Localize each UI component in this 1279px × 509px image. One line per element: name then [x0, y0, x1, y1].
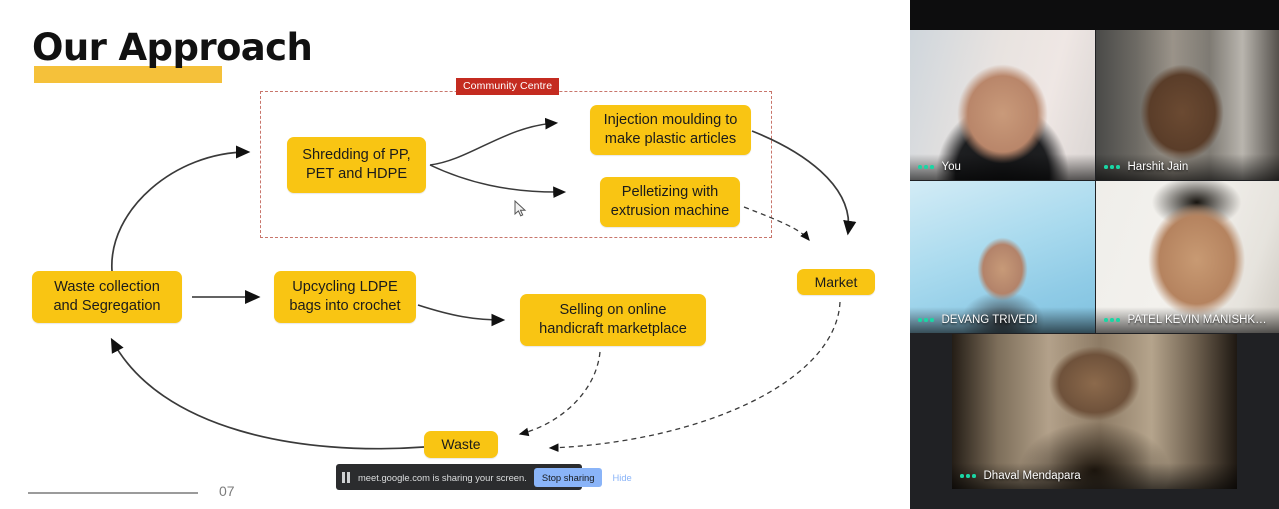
pause-icon [342, 472, 351, 483]
node-shredding: Shredding of PP, PET and HDPE [287, 137, 426, 193]
mic-activity-icon [1104, 318, 1120, 322]
participant-tile-patel-kevin[interactable]: PATEL KEVIN MANISHK… [1096, 181, 1279, 333]
participant-name: DEVANG TRIVEDI [942, 314, 1038, 326]
node-waste: Waste [424, 431, 498, 458]
node-shredding-label: Shredding of PP, PET and HDPE [296, 146, 417, 184]
mic-activity-icon [960, 474, 976, 478]
node-pelletizing-label: Pelletizing with extrusion machine [609, 183, 731, 221]
page-title: Our Approach [32, 26, 312, 69]
node-pelletizing: Pelletizing with extrusion machine [600, 177, 740, 227]
node-selling-online: Selling on online handicraft marketplace [520, 294, 706, 346]
mic-activity-icon [918, 165, 934, 169]
node-waste-collection-label: Waste collection and Segregation [41, 278, 173, 316]
name-strip: PATEL KEVIN MANISHK… [1096, 307, 1279, 333]
mouse-cursor-icon [514, 200, 528, 218]
hide-button[interactable]: Hide [609, 468, 634, 487]
node-injection-moulding: Injection moulding to make plastic artic… [590, 105, 751, 155]
node-selling-online-label: Selling on online handicraft marketplace [529, 301, 697, 339]
page-number: 07 [219, 483, 235, 499]
participant-name: Harshit Jain [1128, 161, 1189, 173]
participant-tile-dhaval-mendapara[interactable]: Dhaval Mendapara [952, 334, 1237, 489]
participant-name: You [942, 161, 961, 173]
stop-sharing-button[interactable]: Stop sharing [534, 468, 603, 487]
node-upcycling-ldpe-label: Upcycling LDPE bags into crochet [283, 278, 407, 316]
name-strip: DEVANG TRIVEDI [910, 307, 1095, 333]
shared-slide: Our Approach Community Centre [0, 0, 910, 509]
share-message: meet.google.com is sharing your screen. [358, 472, 527, 483]
node-market: Market [797, 269, 875, 295]
node-market-label: Market [815, 273, 858, 292]
participant-tile-harshit-jain[interactable]: Harshit Jain [1096, 30, 1279, 180]
meet-participants-panel: You Harshit Jain DEVANG TRIVEDI PATEL KE… [910, 0, 1279, 509]
participant-name: Dhaval Mendapara [984, 470, 1081, 482]
name-strip: Harshit Jain [1096, 154, 1279, 180]
node-injection-moulding-label: Injection moulding to make plastic artic… [599, 111, 742, 149]
title-text: Our Approach [32, 26, 312, 69]
screen: Our Approach Community Centre [0, 0, 1279, 509]
node-waste-collection: Waste collection and Segregation [32, 271, 182, 323]
screen-share-bar[interactable]: meet.google.com is sharing your screen. … [336, 464, 582, 490]
node-upcycling-ldpe: Upcycling LDPE bags into crochet [274, 271, 416, 323]
meet-topbar [910, 0, 1279, 30]
mic-activity-icon [1104, 165, 1120, 169]
mic-activity-icon [918, 318, 934, 322]
participant-name: PATEL KEVIN MANISHK… [1128, 314, 1267, 326]
footer-rule [28, 492, 198, 494]
node-waste-label: Waste [441, 435, 480, 454]
participant-tile-devang-trivedi[interactable]: DEVANG TRIVEDI [910, 181, 1095, 333]
name-strip: Dhaval Mendapara [952, 463, 1237, 489]
participant-tile-you[interactable]: You [910, 30, 1095, 180]
name-strip: You [910, 154, 1095, 180]
